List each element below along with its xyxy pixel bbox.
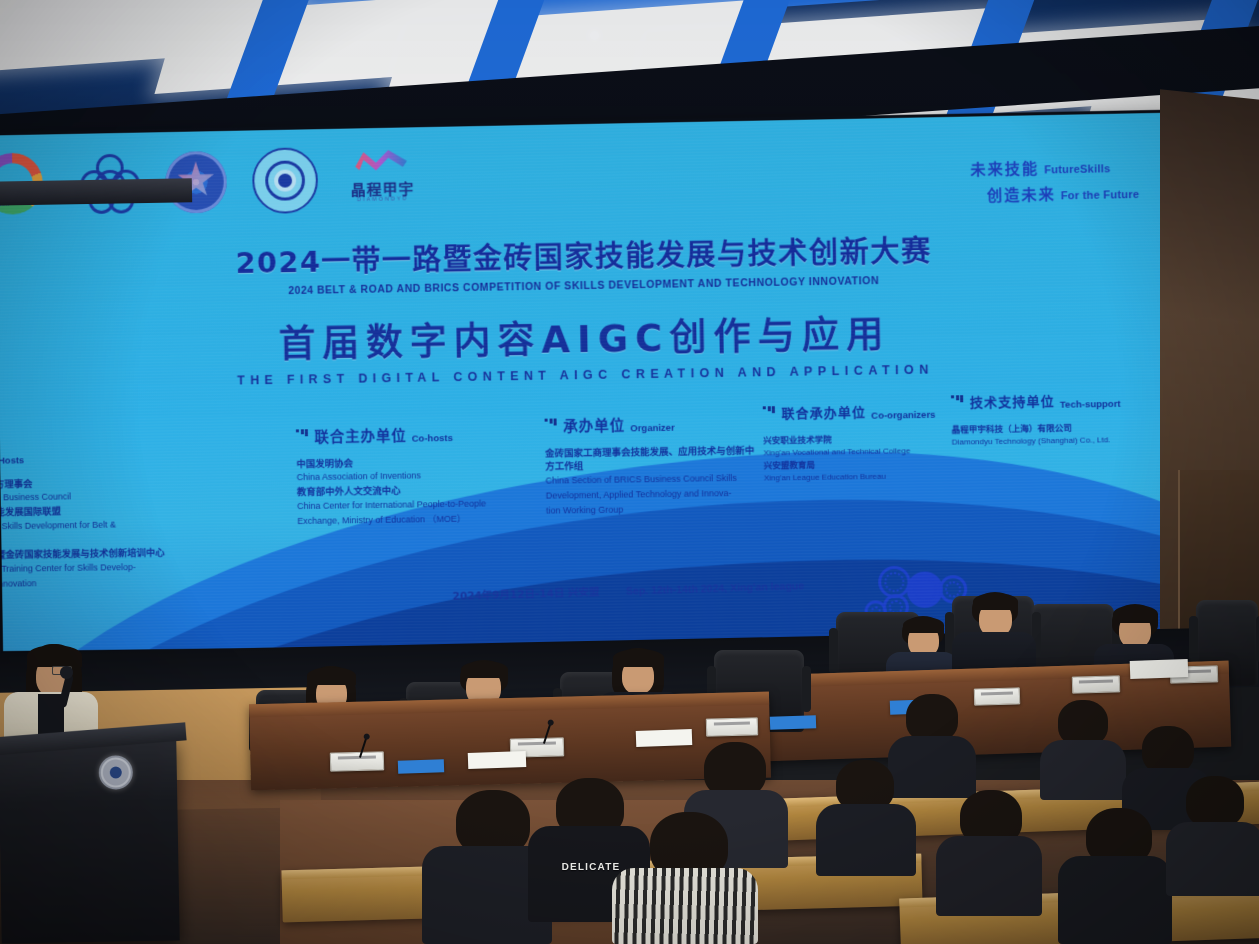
- name-placard: [706, 717, 758, 736]
- title-block: 2024一带一路暨金砖国家技能发展与技术创新大赛 2024 BELT & ROA…: [0, 223, 1179, 391]
- org-line: China Center for International People-to…: [297, 496, 536, 512]
- org-line: Road and BRICS Training Center for Skill…: [0, 560, 217, 576]
- org-header: 联合主办单位 Co-hosts: [296, 423, 535, 448]
- name-placard: [1072, 675, 1120, 693]
- org-line: and Technology Innovation: [0, 574, 217, 590]
- org-column-co-organizers: 联合承办单位 Co-organizers 兴安职业技术学院 Xing'an Vo…: [763, 400, 956, 486]
- org-line: China Association of Inventions: [297, 468, 536, 484]
- document-paper: [636, 729, 693, 747]
- org-header-en: Co-organizers: [871, 410, 936, 422]
- org-header-en: Tech-support: [1060, 399, 1121, 411]
- org-line: Diamondyu Technology (Shanghai) Co., Ltd…: [952, 434, 1155, 448]
- organization-columns: 办单位 Hosts 家工商理事会中方理事会 Chapter of BRICS B…: [0, 403, 1182, 610]
- slogan-line1-en: FutureSkills: [1044, 163, 1110, 176]
- speaker-podium: [0, 740, 180, 943]
- slogan-line-2: 创造未来For the Future: [987, 182, 1140, 206]
- org-header-en: Co-hosts: [412, 433, 453, 445]
- slogan-line-1: 未来技能FutureSkills: [970, 156, 1139, 180]
- org-line: China Section of BRICS Business Council …: [545, 471, 761, 487]
- bullet-icon: [545, 418, 559, 436]
- desk-folder: [398, 759, 444, 774]
- org-header-en: Organizer: [630, 423, 675, 435]
- org-header: 技术支持单位 Tech-support: [951, 389, 1154, 413]
- slogan-line2-en: For the Future: [1061, 189, 1140, 203]
- bullet-icon: [763, 406, 777, 424]
- diamondyu-mark-icon: [355, 148, 407, 179]
- org-column-co-hosts: 联合主办单位 Co-hosts 中国发明协会 China Association…: [296, 423, 536, 529]
- bullet-icon: [951, 395, 965, 413]
- desk-folder: [770, 715, 816, 730]
- org-line: Xing'an League Education Bureau: [764, 470, 956, 484]
- org-header-cn: 联合承办单位: [781, 402, 866, 422]
- org-line: and BRICS: [0, 532, 216, 549]
- org-line: Exchange, Ministry of Education （MOE）: [297, 511, 536, 527]
- org-column-tech-support: 技术支持单位 Tech-support 晶程甲宇科技（上海）有限公司 Diamo…: [951, 389, 1154, 450]
- org-line: tion Working Group: [546, 501, 762, 517]
- slogan-line2-cn: 创造未来: [987, 185, 1056, 204]
- slogan-block: 未来技能FutureSkills 创造未来For the Future: [970, 156, 1139, 211]
- gear-icon: [878, 566, 911, 599]
- event-date-cn: 2024年9月12日-14日 兴安盟: [452, 586, 599, 602]
- circular-seal-logo: [252, 147, 318, 214]
- org-line: Development, Applied Technology and Inno…: [546, 486, 762, 502]
- gear-icon: [906, 571, 943, 608]
- org-column-organizer: 承办单位 Organizer 金砖国家工商理事会技能发展、应用技术与创新中 方工…: [545, 412, 762, 518]
- name-placard: [974, 687, 1020, 705]
- document-paper: [468, 751, 527, 769]
- event-date-en: Sep. 12th-14th 2024, Xing'an league: [626, 580, 804, 597]
- bullet-icon: [296, 429, 310, 447]
- diamondyu-logo-subtext: DIAMONDYU: [344, 196, 422, 203]
- podium-emblem-icon: [98, 755, 133, 790]
- downlight-icon: [590, 31, 599, 40]
- org-header: 承办单位 Organizer: [545, 412, 761, 436]
- document-paper: [1130, 659, 1189, 679]
- conference-hall-photo: ICS ss Council 晶程甲宇 DIAMONDYU 未来技: [0, 0, 1259, 944]
- org-line: Xing'an Vocational and Technical College: [763, 445, 955, 459]
- org-header-cn: 承办单位: [563, 414, 625, 436]
- org-header: 联合承办单位 Co-organizers: [763, 400, 955, 424]
- slogan-line1-cn: 未来技能: [970, 160, 1039, 179]
- org-column-hosts: 办单位 Hosts 家工商理事会中方理事会 Chapter of BRICS B…: [0, 444, 217, 593]
- org-header-cn: 技术支持单位: [970, 391, 1055, 411]
- microphone-head-icon: [60, 666, 73, 679]
- podium-base: [0, 178, 192, 206]
- name-placard: [330, 751, 384, 771]
- org-header: 办单位 Hosts: [0, 444, 215, 469]
- org-header-en: Hosts: [0, 455, 24, 466]
- org-header-cn: 联合主办单位: [314, 425, 407, 447]
- diamondyu-logo: 晶程甲宇 DIAMONDYU: [343, 148, 421, 209]
